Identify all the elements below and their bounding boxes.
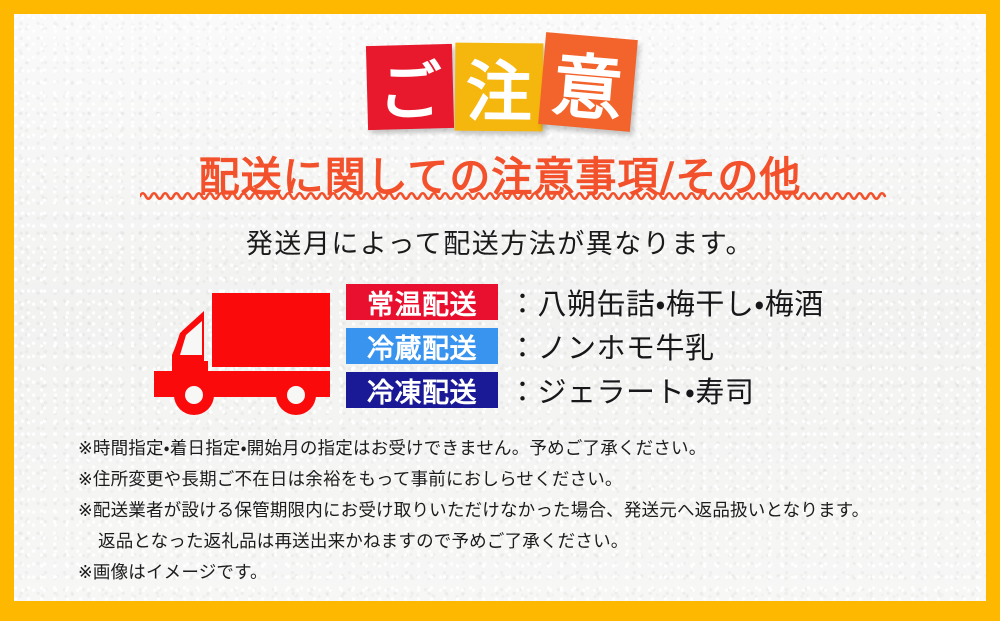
delivery-row: 冷凍配送 ：ジェラート・寿司 [346, 368, 824, 412]
stamp-character-go: ご [366, 44, 454, 130]
lead-sentence: 発送月によって配送方法が異なります。 [14, 222, 986, 261]
delivery-badge-frozen: 冷凍配送 [346, 372, 498, 408]
delivery-items-text: ジェラート・寿司 [538, 375, 755, 409]
delivery-row: 冷蔵配送 ：ノンホモ牛乳 [346, 324, 824, 368]
delivery-separator: ： [508, 287, 538, 321]
delivery-separator: ： [508, 375, 538, 409]
footnote-item: ※配送業者が設ける保管期限内にお受け取りいただけなかった場合、発送元へ返品扱いと… [78, 496, 956, 527]
wavy-underline-icon [140, 189, 888, 201]
footnote-item: ※住所変更や長期ご不在日は余裕をもって事前におしらせください。 [78, 465, 956, 496]
delivery-items-room-temperature: ：八朔缶詰・梅干し・梅酒 [508, 281, 824, 323]
delivery-badge-room-temperature: 常温配送 [346, 284, 498, 320]
delivery-items-refrigerated: ：ノンホモ牛乳 [508, 325, 715, 367]
delivery-badge-refrigerated: 冷蔵配送 [346, 328, 498, 364]
stamp-character-chu: 注 [455, 43, 544, 132]
header-stamp-group: ご 注 意 [14, 31, 986, 141]
paper-background: ご 注 意 配送に関しての注意事項/その他 発送月によって配送方法が異なります。 [14, 14, 986, 601]
delivery-truck-icon [146, 285, 342, 417]
delivery-rows-list: 常温配送 ：八朔缶詰・梅干し・梅酒 冷蔵配送 ：ノンホモ牛乳 冷凍配送 ：ジェラ… [346, 280, 824, 412]
delivery-items-frozen: ：ジェラート・寿司 [508, 369, 754, 411]
footnote-item: 返品となった返礼品は再送出来かねますので予めご了承ください。 [78, 527, 956, 558]
footnote-item: ※画像はイメージです。 [78, 558, 956, 589]
footnote-item: ※時間指定・着日指定・開始月の指定はお受けできません。予めご了承ください。 [78, 434, 956, 465]
delivery-separator: ： [508, 331, 538, 365]
delivery-row: 常温配送 ：八朔缶詰・梅干し・梅酒 [346, 280, 824, 324]
footnotes-list: ※時間指定・着日指定・開始月の指定はお受けできません。予めご了承ください。 ※住… [78, 434, 956, 589]
delivery-info-band: 常温配送 ：八朔缶詰・梅干し・梅酒 冷蔵配送 ：ノンホモ牛乳 冷凍配送 ：ジェラ… [14, 272, 986, 432]
stamp-character-i: 意 [538, 32, 638, 132]
shipping-notice-card: ご 注 意 配送に関しての注意事項/その他 発送月によって配送方法が異なります。 [0, 0, 1000, 621]
delivery-items-text: ノンホモ牛乳 [538, 331, 715, 365]
delivery-items-text: 八朔缶詰・梅干し・梅酒 [538, 287, 824, 321]
